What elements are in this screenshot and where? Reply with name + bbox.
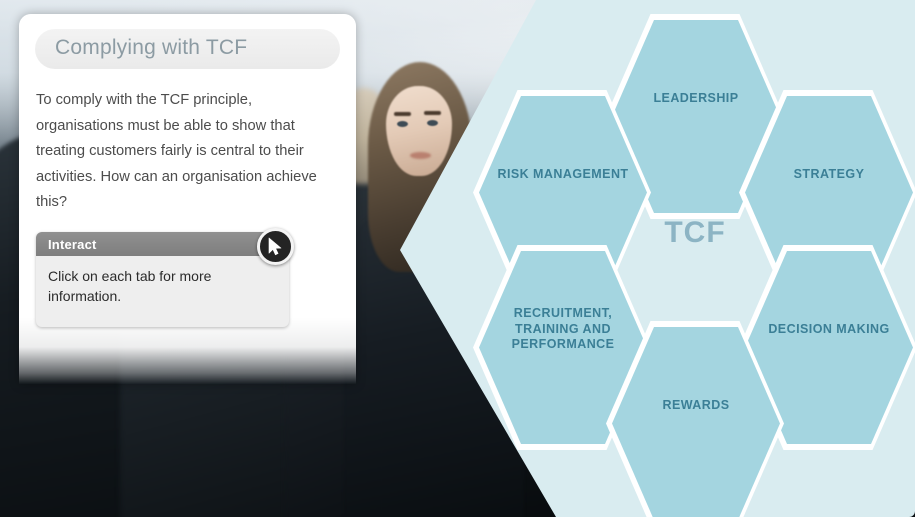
cursor-arrow-icon bbox=[257, 228, 294, 265]
hexagon-decision-making-label: DECISION MAKING bbox=[752, 322, 905, 338]
content-card: Complying with TCF To comply with the TC… bbox=[19, 14, 356, 384]
diagram-center-label: TCF bbox=[606, 216, 784, 250]
hexagon-leadership-label: LEADERSHIP bbox=[637, 91, 754, 107]
body-text: To comply with the TCF principle, organi… bbox=[36, 88, 342, 216]
interact-instruction: Click on each tab for more information. bbox=[36, 256, 289, 306]
hexagon-rewards-label: REWARDS bbox=[646, 398, 745, 414]
hexagon-strategy-label: STRATEGY bbox=[778, 167, 881, 183]
interact-panel: Interact Click on each tab for more info… bbox=[36, 232, 289, 327]
hexagon-risk-management-label: RISK MANAGEMENT bbox=[481, 167, 644, 183]
page-title: Complying with TCF bbox=[55, 36, 247, 60]
interact-panel-header: Interact bbox=[36, 232, 289, 256]
slide-stage: LEADERSHIP RISK MANAGEMENT STRATEGY RECR… bbox=[0, 0, 915, 517]
interact-panel-header-label: Interact bbox=[48, 237, 97, 252]
hexagon-recruitment-label: RECRUITMENT, TRAINING AND PERFORMANCE bbox=[479, 306, 647, 353]
